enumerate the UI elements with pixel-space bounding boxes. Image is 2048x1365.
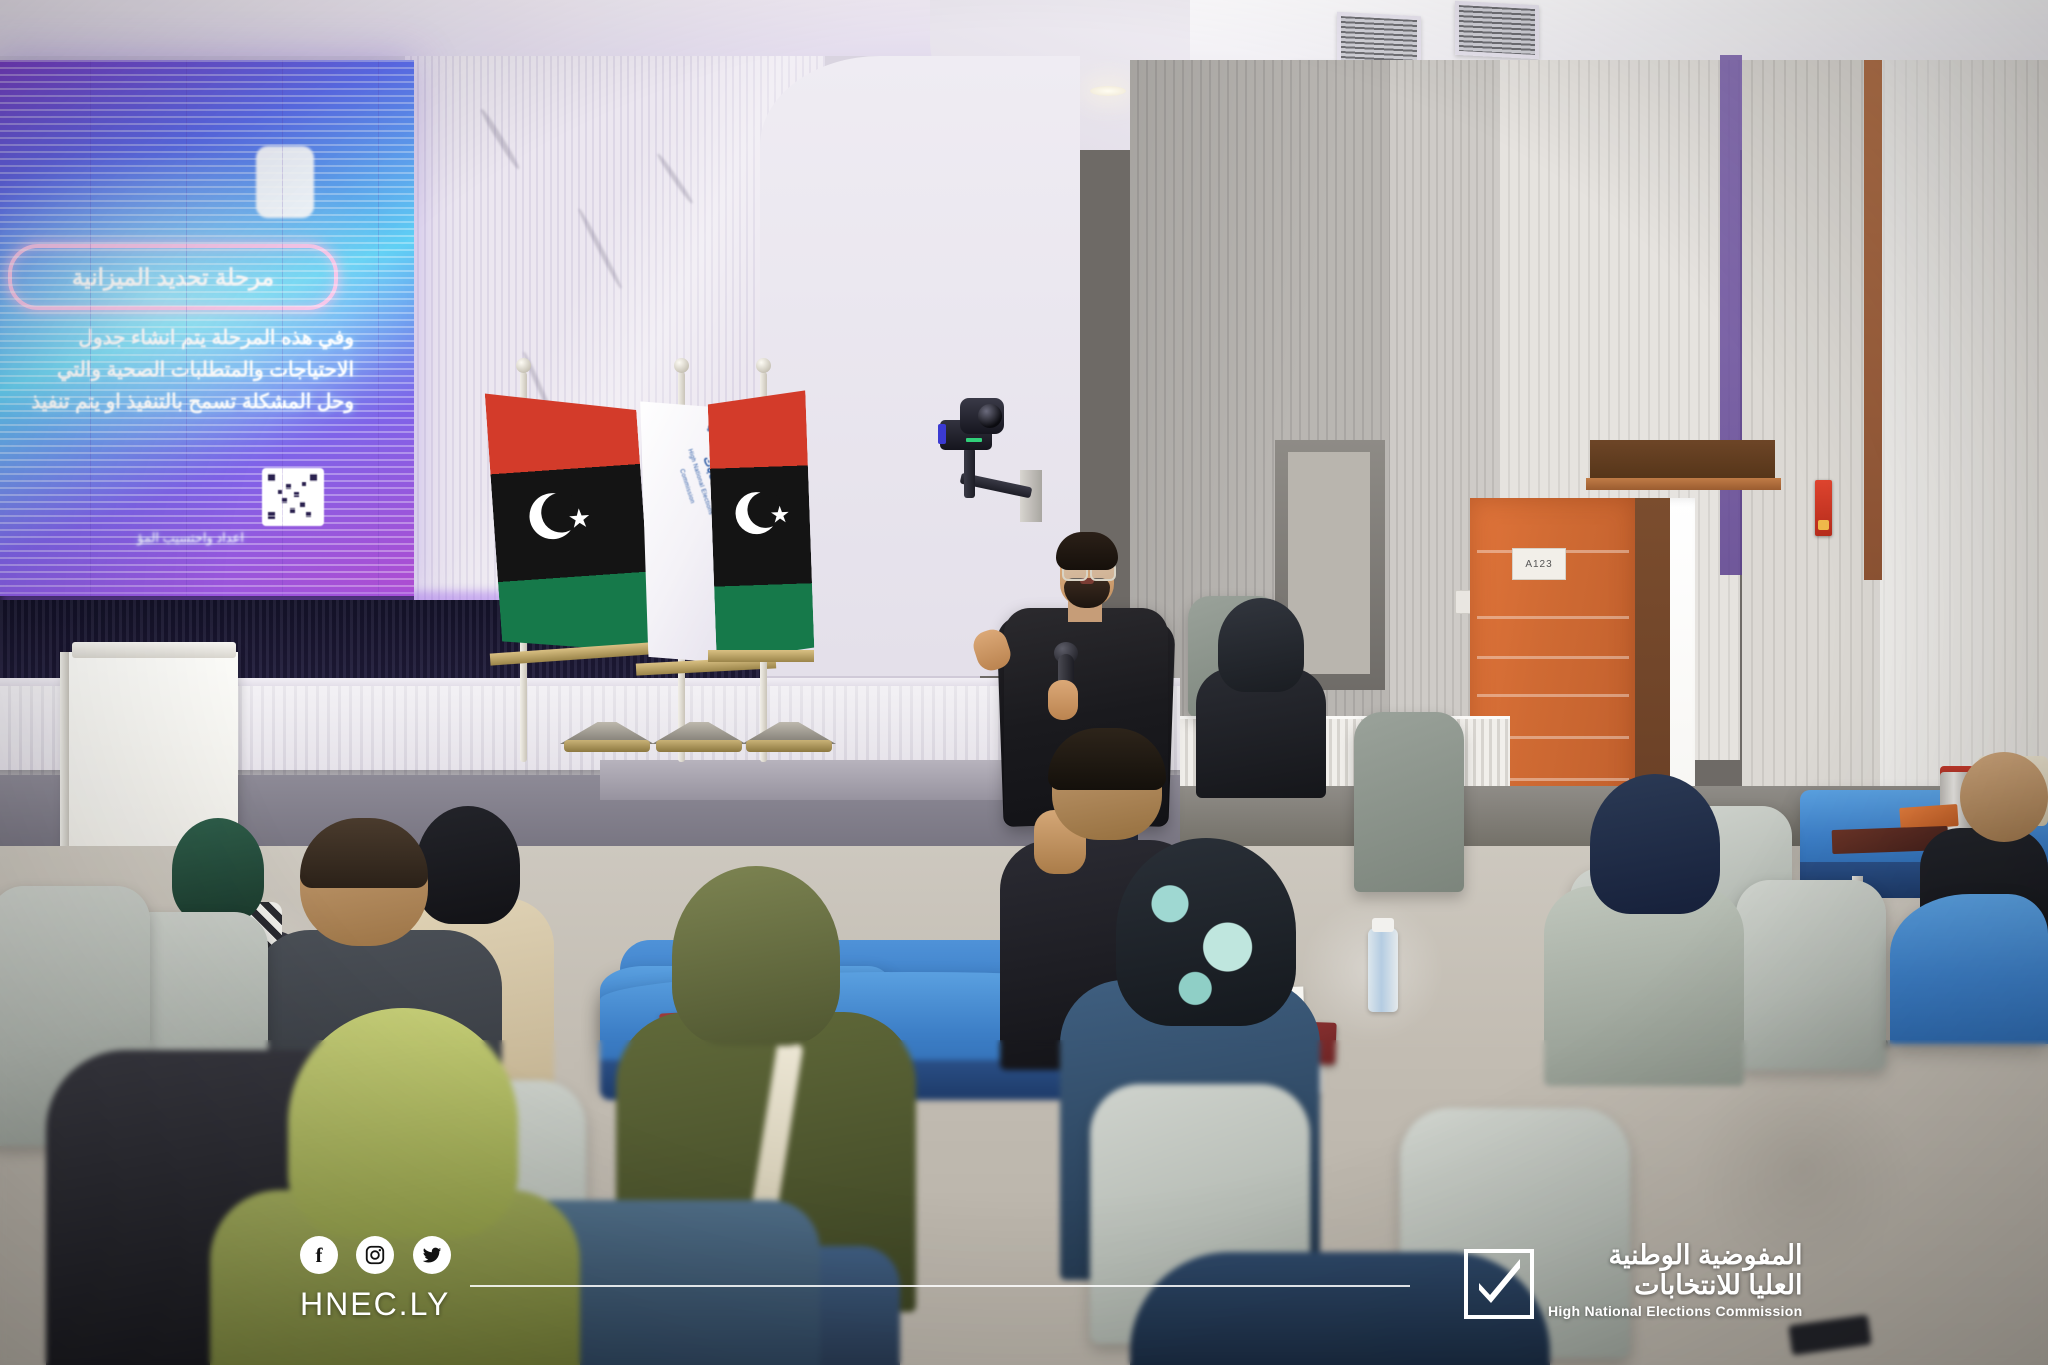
instagram-glyph <box>364 1244 386 1266</box>
hnec-logo-text-ar: المفوضية الوطنية العليا للانتخابات <box>1548 1240 1802 1300</box>
chair[interactable] <box>1354 712 1464 892</box>
checkbox-icon <box>1464 1249 1534 1319</box>
participant-black-hijab <box>416 806 520 924</box>
participant-body <box>1544 886 1744 1086</box>
flag-base-right <box>746 740 832 752</box>
camera-side-panel <box>938 424 946 444</box>
recessed-ceiling-light <box>1090 86 1126 96</box>
flipchart-clamp <box>72 642 236 658</box>
door-groove <box>1477 616 1629 619</box>
chair[interactable] <box>1736 880 1886 1070</box>
door-room-number-sign: A123 <box>1512 548 1566 580</box>
purple-accent-strip <box>1720 55 1742 575</box>
ceiling-drop-left <box>0 0 980 56</box>
hnec-logo-line1: المفوضية الوطنية <box>1548 1240 1802 1270</box>
fire-alarm-icon[interactable] <box>1815 480 1832 536</box>
door-groove <box>1477 656 1629 659</box>
marble-vein <box>656 152 695 204</box>
conference-hall-photo: A123 مرحلة تحديد الميزانية وفي هذه المرح… <box>0 0 2048 1365</box>
participant-floral-hijab <box>1116 838 1296 1026</box>
door-header-panel <box>1590 440 1775 482</box>
libya-flag-left: ★ <box>485 383 653 663</box>
marble-vein <box>479 108 521 171</box>
facebook-icon[interactable]: f <box>300 1236 338 1274</box>
presenter-hair <box>1056 532 1118 570</box>
presenter-right-hand <box>1048 680 1078 720</box>
facebook-glyph: f <box>316 1245 323 1266</box>
foreground-participant-green-hijab <box>288 1008 518 1238</box>
flag-finial-center <box>674 358 689 373</box>
flag-finial-right <box>756 358 771 373</box>
brand-divider <box>470 1285 1410 1287</box>
flag-base-left <box>564 740 650 752</box>
led-presentation-screen: مرحلة تحديد الميزانية وفي هذه المرحلة يت… <box>0 60 414 600</box>
far-right-wall-highlight <box>1880 60 2048 820</box>
camera-status-led-icon <box>966 438 982 442</box>
participant-hijab <box>1590 774 1720 914</box>
door-groove <box>1477 694 1629 697</box>
participant-hijab <box>1218 598 1304 692</box>
star-icon: ★ <box>769 503 790 527</box>
foreground-right-table <box>1890 894 2048 1044</box>
fire-alarm-lens-icon <box>1818 520 1829 530</box>
marble-vein <box>577 208 624 290</box>
hnec-logo-text-en: High National Elections Commission <box>1548 1303 1802 1319</box>
hnec-logo: المفوضية الوطنية العليا للانتخابات High … <box>1464 1240 1802 1319</box>
camera-mount-post <box>964 448 975 498</box>
door-header-trim <box>1586 478 1781 490</box>
participant-green-hijab <box>172 818 264 922</box>
brand-url[interactable]: HNEC.LY <box>300 1286 480 1323</box>
wood-accent-strip <box>1864 60 1882 580</box>
participant-head <box>1960 752 2048 842</box>
flag-base-center <box>656 740 742 752</box>
brand-social-block: f HNEC.LY <box>300 1236 480 1323</box>
participant-olive-hijab <box>672 866 840 1046</box>
flag-fringe-right <box>708 650 814 662</box>
water-bottle-cap <box>1372 918 1394 932</box>
libya-flag-right: ★ <box>707 390 814 661</box>
water-bottle <box>1368 928 1398 1012</box>
check-mark-icon <box>1476 1259 1522 1303</box>
hnec-logo-line2: العليا للانتخابات <box>1548 1270 1802 1300</box>
hnec-logo-text: المفوضية الوطنية العليا للانتخابات High … <box>1548 1240 1802 1319</box>
twitter-glyph <box>421 1244 443 1266</box>
hvac-vent-right <box>1455 1 1539 59</box>
instagram-icon[interactable] <box>356 1236 394 1274</box>
flag-finial-left <box>516 358 531 373</box>
camera-lens-icon <box>978 404 1002 428</box>
star-icon: ★ <box>567 504 592 532</box>
social-icon-row: f <box>300 1236 480 1274</box>
screen-scanline-moire <box>0 60 414 600</box>
twitter-icon[interactable] <box>413 1236 451 1274</box>
